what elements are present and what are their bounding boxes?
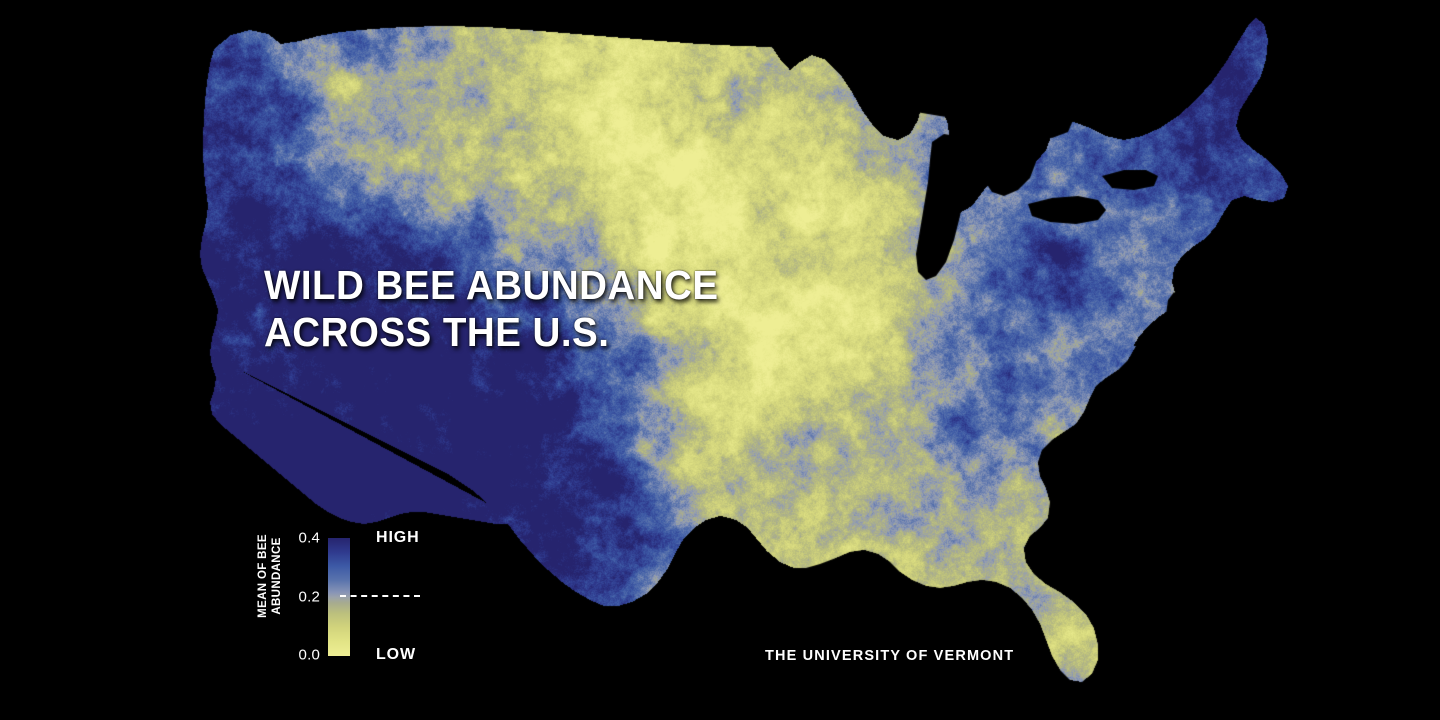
legend-axis-label-line-1: MEAN OF BEE — [256, 506, 270, 646]
legend-tick-high: 0.4 — [299, 530, 320, 547]
legend-tick-labels: 0.4 0.2 0.0 — [284, 528, 320, 660]
attribution-text: THE UNIVERSITY OF VERMONT — [765, 648, 1014, 664]
legend-tick-low: 0.0 — [299, 647, 320, 664]
legend-tick-mid: 0.2 — [299, 589, 320, 606]
legend-extreme-labels: HIGH LOW — [376, 528, 456, 660]
legend-label-low: LOW — [376, 646, 416, 664]
map-raster-canvas — [0, 0, 1440, 720]
legend-axis-label-line-2: ABUNDANCE — [270, 506, 284, 646]
map-legend: MEAN OF BEE ABUNDANCE 0.4 0.2 0.0 HIGH L… — [228, 528, 428, 672]
map-visualization: WILD BEE ABUNDANCE ACROSS THE U.S. THE U… — [0, 0, 1440, 720]
legend-label-high: HIGH — [376, 529, 420, 547]
legend-colorbar — [328, 538, 350, 656]
us-bee-abundance-map — [0, 0, 1440, 720]
